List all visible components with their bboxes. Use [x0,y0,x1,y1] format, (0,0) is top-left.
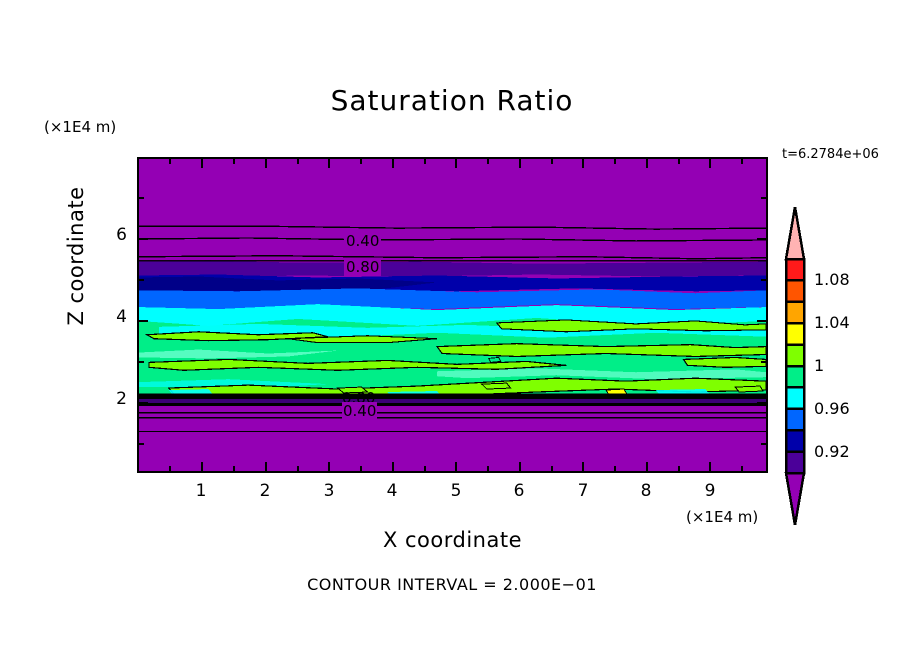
x-tick-minor [169,466,171,471]
x-tick-top-minor [233,159,235,164]
x-tick-top-minor [169,159,171,164]
x-tick-major [328,462,330,471]
x-tick-label: 9 [690,481,730,501]
x-tick-major [582,462,584,471]
x-tick-major [265,462,267,471]
time-annotation: t=6.2784e+06 [782,147,879,162]
y-tick-label: 2 [93,389,127,409]
y-tick-right-minor [761,197,766,199]
contour-field [139,159,766,471]
x-tick-minor [424,466,426,471]
x-tick-major [709,462,711,471]
x-tick-minor [233,466,235,471]
y-axis-unit-label: (×1E4 m) [44,118,116,136]
x-tick-minor [614,466,616,471]
x-tick-minor [297,466,299,471]
x-tick-top-major [519,159,521,168]
y-tick-right-major [757,320,766,322]
contour-interval-caption: CONTOUR INTERVAL = 2.000E−01 [0,575,904,594]
x-tick-minor [487,466,489,471]
x-tick-label: 1 [181,481,221,501]
x-axis-title: X coordinate [137,528,768,552]
contour-plot-frame[interactable]: 0.40 0.80 0.80 0.40 [137,157,768,473]
x-tick-top-minor [487,159,489,164]
x-tick-label: 7 [563,481,603,501]
colorbar[interactable] [782,205,808,527]
x-tick-label: 2 [245,481,285,501]
x-tick-top-minor [678,159,680,164]
x-tick-major [392,462,394,471]
y-tick-right-minor [761,361,766,363]
x-tick-top-minor [424,159,426,164]
x-tick-major [455,462,457,471]
y-axis-title: Z coordinate [64,156,88,356]
colorbar-label: 1 [814,356,824,375]
y-tick-minor [139,197,144,199]
y-tick-right-major [757,238,766,240]
x-tick-minor [551,466,553,471]
x-tick-label: 8 [626,481,666,501]
y-tick-major [139,320,148,322]
colorbar-label: 0.92 [814,442,850,461]
x-tick-top-minor [551,159,553,164]
colorbar-label: 0.96 [814,399,850,418]
y-tick-right-minor [761,279,766,281]
x-tick-label: 4 [372,481,412,501]
colorbar-label: 1.04 [814,313,850,332]
y-tick-label: 6 [93,225,127,245]
x-tick-label: 3 [309,481,349,501]
contour-label-0.40-upper: 0.40 [344,232,381,250]
y-tick-minor [139,279,144,281]
x-tick-top-major [455,159,457,168]
x-tick-top-major [392,159,394,168]
x-tick-top-major [201,159,203,168]
x-tick-major [201,462,203,471]
colorbar-label: 1.08 [814,270,850,289]
x-tick-minor [741,466,743,471]
chart-title: Saturation Ratio [0,84,904,117]
y-tick-right-minor [761,443,766,445]
x-tick-minor [360,466,362,471]
y-tick-minor [139,361,144,363]
x-tick-minor [678,466,680,471]
y-tick-minor [139,443,144,445]
x-tick-top-minor [614,159,616,164]
x-tick-major [646,462,648,471]
x-tick-label: 6 [499,481,539,501]
x-tick-top-major [265,159,267,168]
x-axis-unit-label: (×1E4 m) [686,508,758,526]
x-tick-major [519,462,521,471]
x-tick-top-major [328,159,330,168]
x-tick-top-major [709,159,711,168]
y-tick-major [139,402,148,404]
x-tick-top-minor [297,159,299,164]
x-tick-label: 5 [436,481,476,501]
y-tick-right-major [757,402,766,404]
x-tick-top-major [646,159,648,168]
y-tick-major [139,238,148,240]
contour-label-0.40-lower: 0.40 [342,402,377,420]
y-tick-label: 4 [93,307,127,327]
x-tick-top-minor [741,159,743,164]
x-tick-top-major [582,159,584,168]
contour-label-0.80-upper: 0.80 [344,258,381,276]
x-tick-top-minor [360,159,362,164]
